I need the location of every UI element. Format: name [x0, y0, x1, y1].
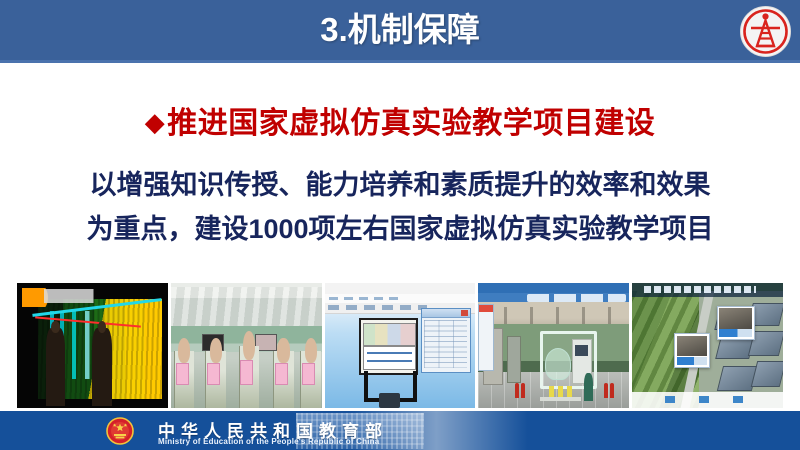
- section-heading: ◆推进国家虚拟仿真实验教学项目建设: [0, 98, 800, 142]
- virtual-reagent-bottles: [549, 386, 573, 397]
- diamond-bullet-icon: ◆: [145, 107, 166, 137]
- dental-station: [174, 351, 195, 409]
- dental-station: [273, 351, 294, 409]
- gallery-image-control-panel-simulation-software[interactable]: [325, 283, 476, 408]
- slide-footer: 中华人民共和国教育部 Ministry of Education of the …: [0, 411, 800, 450]
- sim-control-cabinet: [359, 318, 417, 375]
- university-tower-emblem-icon: [739, 5, 792, 58]
- gallery-image-virtual-laboratory-3d-room[interactable]: [478, 283, 629, 408]
- dental-station: [205, 351, 226, 409]
- body-line-1: 以增强知识传授、能力培养和素质提升的效率和效果: [32, 163, 768, 207]
- fire-extinguisher-icon: [515, 383, 520, 398]
- virtual-lab-bench: [540, 397, 581, 401]
- virtual-lab-app-titlebar: [478, 283, 629, 293]
- page-title: 3.机制保障: [0, 0, 800, 60]
- fire-extinguisher-icon: [610, 383, 615, 398]
- sim-motor: [379, 393, 400, 408]
- vr-vendor-wordmark: [44, 289, 98, 303]
- screenshot-gallery: [17, 283, 783, 408]
- slide: 3.机制保障 ◆推进国家虚拟仿真实验教学项目建设 以增强知识传授、能力培养和素质…: [0, 0, 800, 450]
- gallery-image-aerial-industrial-park-simulation[interactable]: [632, 283, 783, 408]
- gallery-image-vr-visualization-wall[interactable]: [17, 283, 168, 408]
- park-building: [751, 361, 783, 387]
- virtual-lab-side-panel: [478, 304, 494, 371]
- park-app-bottom-toolbar[interactable]: [632, 392, 783, 408]
- fire-extinguisher-icon: [604, 383, 609, 398]
- fire-extinguisher-icon: [521, 383, 526, 398]
- vr-person-left: [46, 328, 66, 406]
- dental-station: [239, 346, 260, 409]
- park-info-card[interactable]: [717, 306, 755, 341]
- vr-person-right: [92, 328, 112, 406]
- park-info-card[interactable]: [674, 333, 709, 368]
- section-heading-text: 推进国家虚拟仿真实验教学项目建设: [167, 107, 655, 140]
- footer-ministry-name-en: Ministry of Education of the People's Re…: [158, 437, 379, 446]
- slide-header: 3.机制保障: [0, 0, 800, 63]
- virtual-glassware: [545, 348, 571, 380]
- dental-station: [300, 351, 321, 409]
- virtual-lab-toolbar-buttons[interactable]: [527, 294, 627, 302]
- body-paragraph: 以增强知识传授、能力培养和素质提升的效率和效果 为重点，建设1000项左右国家虚…: [32, 163, 768, 251]
- body-line-2: 为重点，建设1000项左右国家虚拟仿真实验教学项目: [32, 207, 768, 251]
- sim-result-dialog: [421, 308, 471, 373]
- national-emblem-icon: [106, 417, 134, 445]
- virtual-avatar: [584, 373, 593, 401]
- gallery-image-dental-simulation-lab[interactable]: [171, 283, 322, 408]
- virtual-room-cabinet: [507, 336, 521, 383]
- park-app-header: [632, 283, 783, 297]
